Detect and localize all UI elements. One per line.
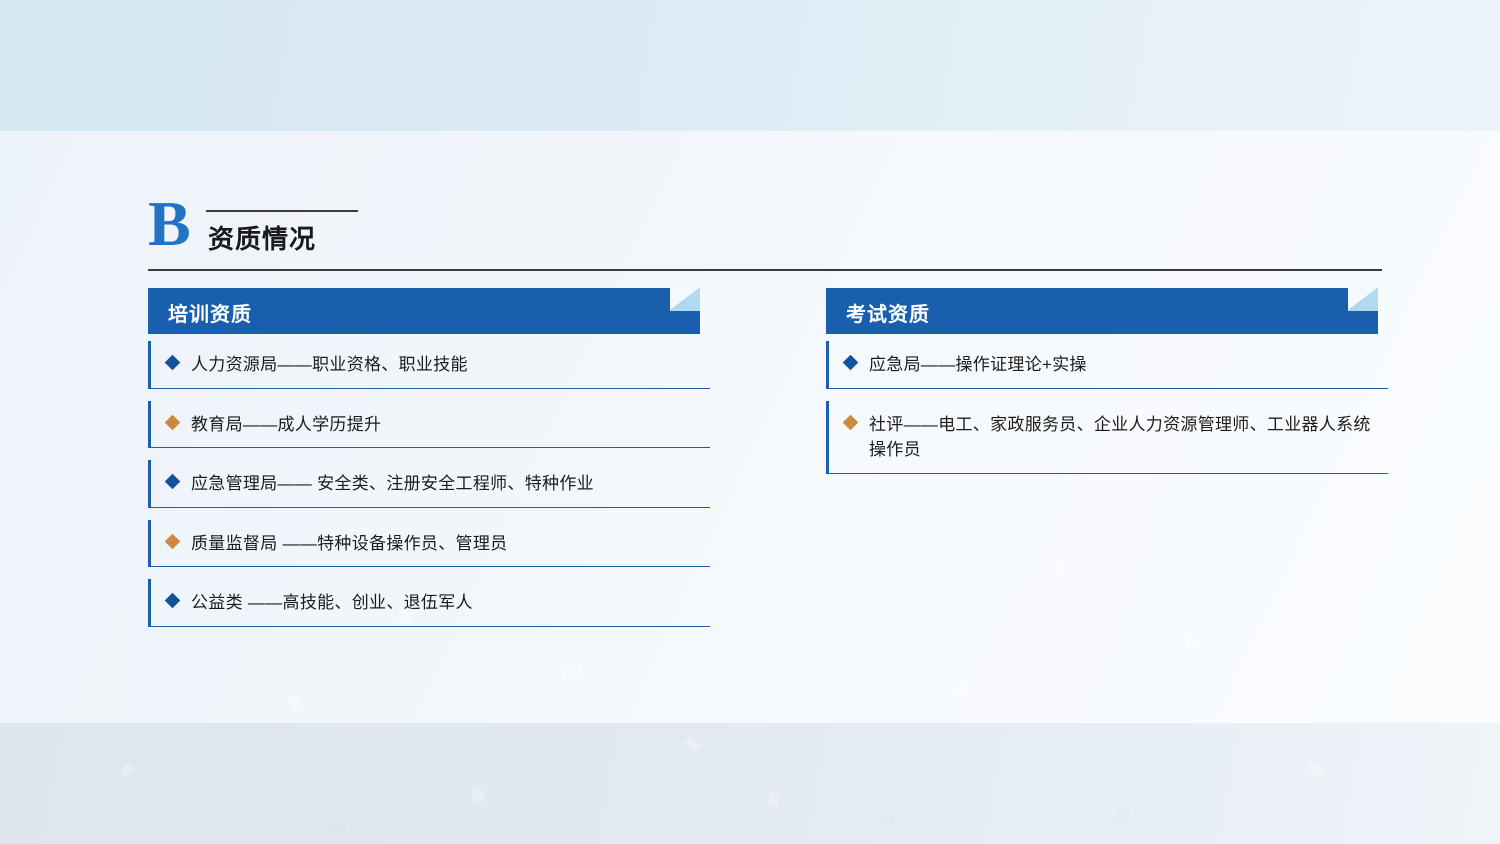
list-item[interactable]: 人力资源局——职业资格、职业技能 — [148, 341, 710, 389]
diamond-bullet-icon — [843, 355, 859, 371]
banner-corner-fold-icon — [1348, 288, 1378, 311]
list-item[interactable]: 公益类 ——高技能、创业、退伍军人 — [148, 579, 710, 627]
list-item[interactable]: 社评——电工、家政服务员、企业人力资源管理师、工业器人系统操作员 — [826, 401, 1388, 474]
list-item-label: 公益类 ——高技能、创业、退伍军人 — [191, 590, 473, 616]
column-training-qualifications: 培训资质 人力资源局——职业资格、职业技能 教育局——成人学历提升 应急管理局—… — [148, 288, 710, 639]
background-band-bottom — [0, 723, 1500, 844]
list-item[interactable]: 教育局——成人学历提升 — [148, 401, 710, 449]
list-item-label: 应急局——操作证理论+实操 — [869, 352, 1087, 378]
banner-title-exam: 考试资质 — [846, 298, 930, 327]
diamond-bullet-icon — [843, 414, 859, 430]
item-list-exam: 应急局——操作证理论+实操 社评——电工、家政服务员、企业人力资源管理师、工业器… — [826, 341, 1388, 474]
banner-exam: 考试资质 — [826, 288, 1388, 334]
diamond-bullet-icon — [165, 355, 181, 371]
banner-corner-fold-icon — [670, 288, 700, 311]
list-item[interactable]: 应急管理局—— 安全类、注册安全工程师、特种作业 — [148, 460, 710, 508]
background-band-top — [0, 0, 1500, 131]
diamond-bullet-icon — [165, 414, 181, 430]
list-item-label: 应急管理局—— 安全类、注册安全工程师、特种作业 — [191, 471, 594, 497]
list-item-label: 社评——电工、家政服务员、企业人力资源管理师、工业器人系统操作员 — [869, 412, 1384, 463]
section-title-top-rule — [206, 210, 358, 212]
list-item-label: 人力资源局——职业资格、职业技能 — [191, 352, 468, 378]
page-title: 资质情况 — [208, 219, 316, 256]
list-item[interactable]: 应急局——操作证理论+实操 — [826, 341, 1388, 389]
section-header: B 资质情况 — [148, 196, 1382, 276]
list-item[interactable]: 质量监督局 ——特种设备操作员、管理员 — [148, 520, 710, 568]
section-divider-rule — [148, 269, 1382, 271]
banner-lower-extension — [628, 311, 700, 334]
list-item-label: 质量监督局 ——特种设备操作员、管理员 — [191, 531, 507, 557]
section-letter-badge: B — [148, 192, 191, 256]
banner-lower-extension — [1306, 311, 1378, 334]
list-item-label: 教育局——成人学历提升 — [191, 412, 381, 438]
banner-training: 培训资质 — [148, 288, 710, 334]
diamond-bullet-icon — [165, 593, 181, 609]
diamond-bullet-icon — [165, 474, 181, 490]
banner-title-training: 培训资质 — [168, 298, 252, 327]
column-exam-qualifications: 考试资质 应急局——操作证理论+实操 社评——电工、家政服务员、企业人力资源管理… — [826, 288, 1388, 486]
item-list-training: 人力资源局——职业资格、职业技能 教育局——成人学历提升 应急管理局—— 安全类… — [148, 341, 710, 627]
diamond-bullet-icon — [165, 533, 181, 549]
